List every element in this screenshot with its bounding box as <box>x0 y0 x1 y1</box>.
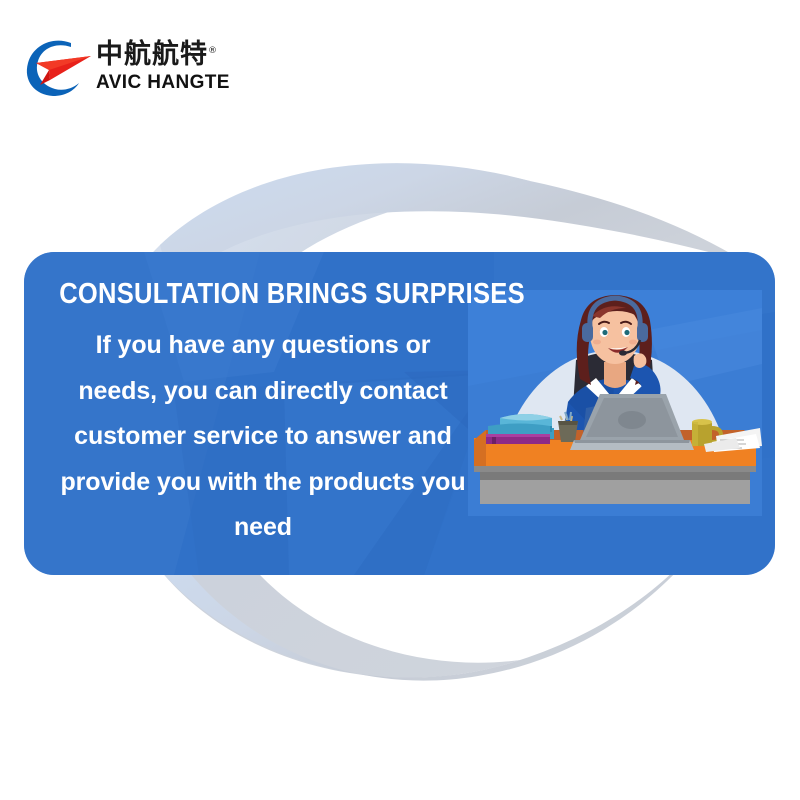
logo-arrow-tail-shape <box>40 70 50 85</box>
customer-service-agent-illustration <box>468 290 762 516</box>
registered-trademark-icon: ® <box>208 46 218 56</box>
avic-hangte-logo: 中航航特® AVIC HANGTE <box>22 30 237 102</box>
logo-mark-icon <box>22 34 94 98</box>
headset-earpiece-right <box>637 323 648 342</box>
logo-chinese-text: 中航航特 <box>96 39 208 70</box>
banner-canvas: 中航航特® AVIC HANGTE <box>0 0 800 800</box>
card-copy-block: CONSULTATION BRINGS SURPRISES If you hav… <box>24 278 494 551</box>
card-body-text: If you have any questions or needs, you … <box>24 323 494 551</box>
headset-earpiece-left <box>582 323 593 342</box>
card-heading: CONSULTATION BRINGS SURPRISES <box>52 278 466 311</box>
logo-english-name: AVIC HANGTE <box>96 73 230 92</box>
logo-wordmark: 中航航特® AVIC HANGTE <box>96 41 230 92</box>
logo-chinese-name: 中航航特® <box>96 41 230 68</box>
consultation-card: CONSULTATION BRINGS SURPRISES If you hav… <box>24 252 775 575</box>
